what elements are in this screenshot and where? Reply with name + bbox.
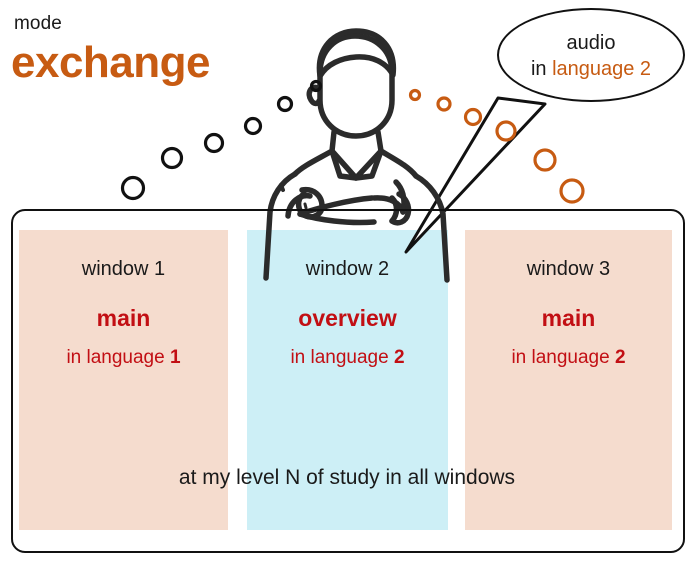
speech-bubble-prefix: in (531, 58, 552, 80)
diagram-canvas: mode exchange (0, 0, 694, 564)
speech-bubble-highlight: language 2 (552, 58, 651, 80)
mode-label: mode (14, 13, 62, 35)
thought-bubbles-left (123, 82, 321, 199)
speech-bubble-line-1: audio (499, 31, 683, 57)
speech-bubble: audio in language 2 (497, 8, 685, 102)
thought-bubbles-right (411, 91, 584, 203)
speech-bubble-line-2: in language 2 (499, 57, 683, 83)
windows-panel-frame (11, 209, 685, 553)
mode-value: exchange (11, 38, 210, 88)
